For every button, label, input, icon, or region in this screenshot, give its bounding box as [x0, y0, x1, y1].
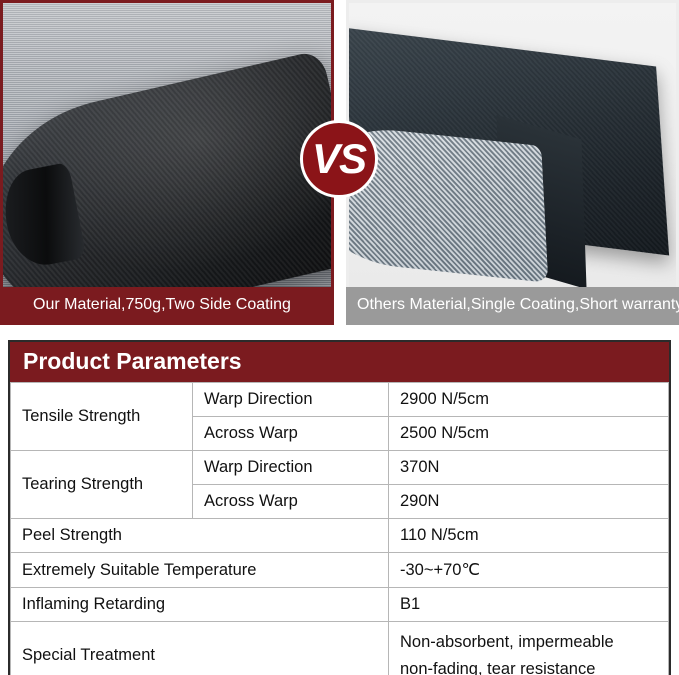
param-value-tensile-warp: 2900 N/5cm: [389, 383, 669, 417]
parameters-grid: Tensile Strength Warp Direction 2900 N/5…: [10, 382, 669, 675]
table-row: Tearing Strength Warp Direction 370N: [11, 451, 669, 485]
param-sub-across-warp: Across Warp: [193, 417, 389, 451]
our-material-panel: Our Material,750g,Two Side Coating: [0, 0, 334, 328]
product-parameters-title: Product Parameters: [10, 342, 669, 382]
our-material-photo: [0, 0, 334, 287]
param-label-peel-strength: Peel Strength: [11, 519, 389, 553]
param-value-inflaming-retarding: B1: [389, 588, 669, 622]
param-value-tearing-warp: 370N: [389, 451, 669, 485]
param-sub-warp-direction-2: Warp Direction: [193, 451, 389, 485]
param-label-suitable-temperature: Extremely Suitable Temperature: [11, 553, 389, 588]
param-value-special-treatment: Non-absorbent, impermeable non-fading, t…: [389, 622, 669, 675]
param-label-special-treatment: Special Treatment: [11, 622, 389, 675]
table-row: Special Treatment Non-absorbent, imperme…: [11, 622, 669, 675]
table-row: Tensile Strength Warp Direction 2900 N/5…: [11, 383, 669, 417]
product-comparison-page: Our Material,750g,Two Side Coating Other…: [0, 0, 679, 675]
param-value-suitable-temperature: -30~+70℃: [389, 553, 669, 588]
table-row: Inflaming Retarding B1: [11, 588, 669, 622]
param-value-peel-strength: 110 N/5cm: [389, 519, 669, 553]
our-material-caption: Our Material,750g,Two Side Coating: [0, 287, 334, 325]
vs-badge-icon: VS: [300, 120, 378, 198]
param-sub-warp-direction: Warp Direction: [193, 383, 389, 417]
param-label-tensile-strength: Tensile Strength: [11, 383, 193, 451]
others-material-panel: Others Material,Single Coating,Short war…: [346, 0, 679, 328]
param-sub-across-warp-2: Across Warp: [193, 485, 389, 519]
others-material-caption: Others Material,Single Coating,Short war…: [346, 287, 679, 325]
param-label-tearing-strength: Tearing Strength: [11, 451, 193, 519]
mesh-backing-layer: [346, 121, 549, 283]
product-parameters-table: Product Parameters Tensile Strength Warp…: [8, 340, 671, 675]
others-material-photo: [346, 0, 679, 287]
comparison-section: Our Material,750g,Two Side Coating Other…: [0, 0, 679, 330]
special-treatment-line-2: non-fading, tear resistance: [400, 656, 657, 675]
special-treatment-line-1: Non-absorbent, impermeable: [400, 629, 657, 656]
param-label-inflaming-retarding: Inflaming Retarding: [11, 588, 389, 622]
param-value-tensile-across: 2500 N/5cm: [389, 417, 669, 451]
table-row: Peel Strength 110 N/5cm: [11, 519, 669, 553]
table-row: Extremely Suitable Temperature -30~+70℃: [11, 553, 669, 588]
param-value-tearing-across: 290N: [389, 485, 669, 519]
